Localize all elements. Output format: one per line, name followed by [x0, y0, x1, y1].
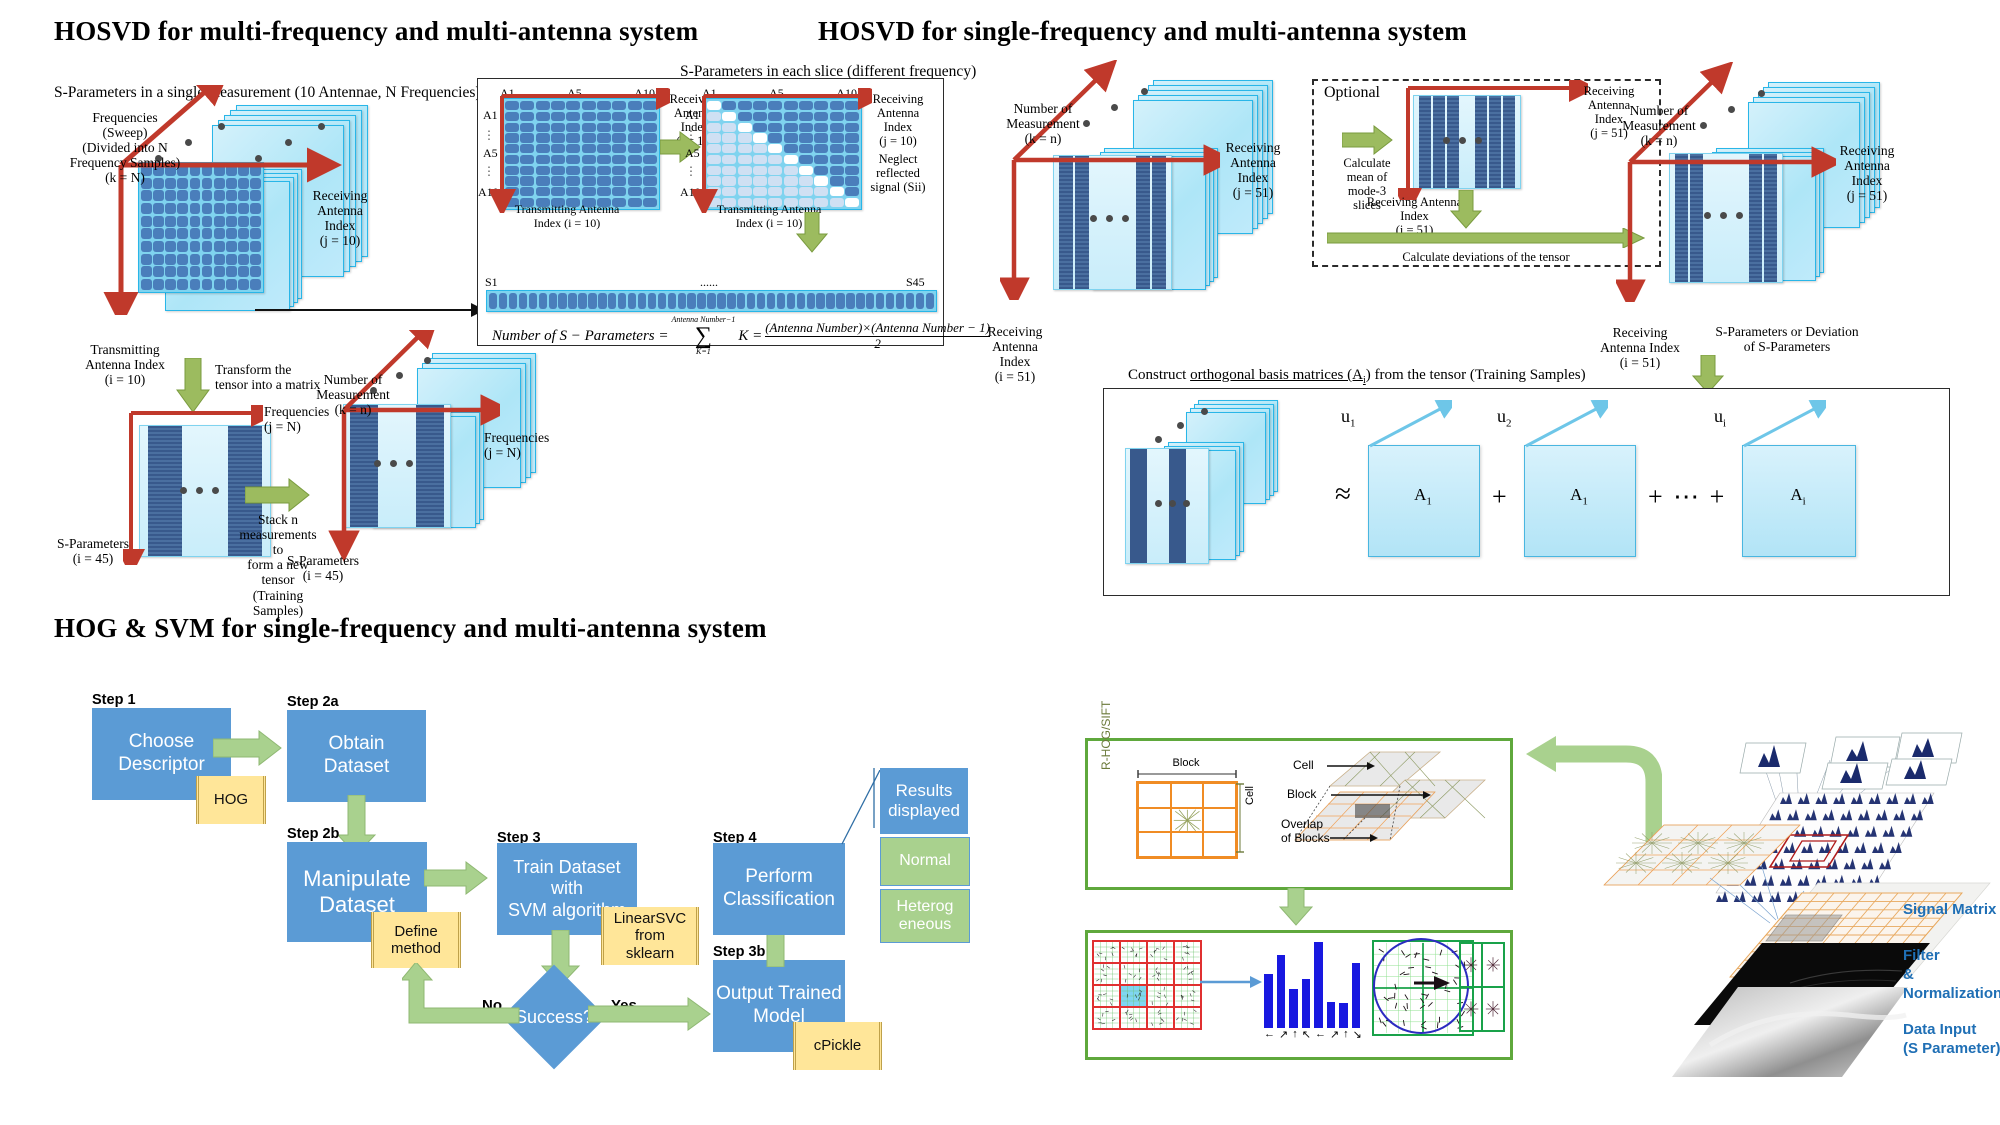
matrix-tri-neglect-note: Neglect reflected signal (Sii) [862, 152, 934, 194]
formula-frac-den: 2 [874, 337, 881, 351]
mt-i0: Transmitting Antenna [679, 203, 859, 217]
green-arrow-down-optional [1450, 190, 1482, 230]
hog-final-cell [1482, 943, 1504, 987]
hog-final-cell [1460, 987, 1482, 1031]
matrix-full-axis-i: Transmitting Antenna Index (i = 10) [477, 203, 657, 231]
formula-frac-num: (Antenna Number)×(Antenna Number − 1) [765, 321, 990, 335]
p2-tensorR-axis-j: Receiving Antenna Index (j = 51) [1827, 143, 1907, 203]
tensor1-k-l2: (Divided into N [60, 140, 190, 155]
signal-matrix-label: Signal Matrix [1903, 901, 2000, 920]
matrix-cell [717, 293, 725, 309]
s-parameter-formula: Number of S − Parameters = Antenna Numbe… [492, 316, 990, 356]
rhog-sift-label: R-HOG/SIFT [1099, 701, 1113, 770]
matrix-cell [707, 293, 715, 309]
histogram-bar [1277, 955, 1286, 1028]
hog-grid-cell [1120, 963, 1147, 985]
u2-u: u [1497, 406, 1506, 426]
matrix-cell [876, 293, 884, 309]
u2-sub: 2 [1506, 418, 1512, 430]
note-cpickle[interactable]: cPickle [793, 1022, 882, 1070]
matrix-cell [558, 293, 566, 309]
histogram-arrow-glyph: ↗ [1330, 1028, 1339, 1041]
basis-matrix-Ai-label: Ai [1742, 485, 1854, 507]
matrix-cell [499, 293, 507, 309]
fb6-l0: Output Trained [716, 983, 842, 1006]
panel1-title: HOSVD for multi-frequency and multi-ante… [54, 16, 698, 47]
hog-co-l0: Overlap [1281, 818, 1330, 832]
mt-j3: (j = 10) [862, 134, 934, 148]
mt-i1: Index (i = 10) [679, 217, 859, 231]
svector-grid [486, 290, 937, 312]
A2-sub: 1 [1582, 495, 1588, 507]
deviations-arrow-label: Calculate deviations of the tensor [1327, 250, 1645, 265]
hog-callout-block-label: Block [1287, 787, 1316, 801]
p2tri1: Antenna Index [1590, 340, 1690, 355]
p2tlk1: Measurement [1000, 116, 1086, 131]
p2-tensorL-axis-i: Receiving Antenna Index (i = 51) [975, 324, 1055, 384]
hog-co-l1: of Blocks [1281, 832, 1330, 846]
t2-k0: Number of [308, 372, 398, 387]
matrix-cell [658, 293, 666, 309]
fb2-l1: Dataset [324, 756, 389, 779]
tensor2-axis-j: Frequencies (j = N) [484, 430, 564, 460]
p2tli3: (i = 51) [975, 369, 1055, 384]
matrix-tri-axis-i: Transmitting Antenna Index (i = 10) [679, 203, 859, 231]
p2trk2: (k = n) [1616, 133, 1702, 148]
histogram-bar [1302, 979, 1311, 1028]
green-arrow-deviations [1327, 228, 1645, 248]
hog-final-arrow [1414, 975, 1450, 991]
p2trn1: of S-Parameters [1702, 339, 1872, 354]
histogram-bar [1314, 942, 1323, 1028]
hog-cell-to-histogram-arrow [1200, 975, 1262, 989]
note-dm-l1: method [391, 940, 441, 957]
result-box-results-displayed[interactable]: Results displayed [880, 768, 968, 834]
mt-n2: signal (Sii) [862, 180, 934, 194]
mf-i0: Transmitting Antenna [477, 203, 657, 217]
hog-grid-cell [1147, 1007, 1174, 1029]
p2tlk0: Number of [1000, 101, 1086, 116]
tensor1-axis-i-label: Transmitting Antenna Index (i = 10) [60, 342, 190, 387]
result-box-normal[interactable]: Normal [880, 837, 970, 886]
note-lsvc-l0: LinearSVC [614, 910, 687, 927]
matrix-cell [816, 293, 824, 309]
hog-final-cell [1460, 943, 1482, 987]
tensor2-axis-k: Number of Measurement (k = n) [308, 372, 398, 417]
basis-approx-symbol: ≈ [1335, 478, 1351, 511]
res-l1: displayed [888, 801, 960, 821]
basis-ui-label: ui [1714, 406, 1726, 430]
hog-callout-overlap-arrow [1330, 834, 1378, 842]
basis-plus-dots: + ⋯ + [1648, 482, 1726, 512]
green-arrow-mean [1342, 125, 1394, 155]
flow-box-obtain-dataset[interactable]: Obtain Dataset [287, 710, 426, 802]
basis-tensor-diag-dots [1155, 400, 1235, 448]
hog-histogram [1264, 942, 1360, 1028]
p2tlj2: Index [1213, 170, 1293, 185]
histogram-arrow-glyph: ↑ [1292, 1028, 1298, 1041]
p2-tensorR-arrows [1616, 62, 1836, 302]
mt-n0: Neglect [862, 152, 934, 166]
matrix-cell [826, 293, 834, 309]
p2tri2: (i = 51) [1590, 355, 1690, 370]
p2trk1: Measurement [1616, 118, 1702, 133]
p2trj1: Antenna [1827, 158, 1907, 173]
note-dm-l0: Define [394, 923, 437, 940]
hog-block-dim-arrow [1136, 770, 1238, 778]
st-l3: (Training Samples) [238, 588, 318, 618]
om0: Calculate [1334, 156, 1400, 170]
p2tri0: Receiving [1590, 325, 1690, 340]
histogram-bar [1339, 1003, 1348, 1028]
tensor1-axis-k-label: Frequencies (Sweep) (Divided into N Freq… [60, 110, 190, 186]
A2-a: A [1570, 485, 1582, 504]
histogram-bar [1264, 974, 1273, 1028]
om1: mean of [1334, 170, 1400, 184]
histogram-arrow-glyph: ↗ [1279, 1028, 1288, 1041]
basis-tensor-dots [1155, 500, 1190, 507]
matrix-cell [697, 293, 705, 309]
mt-n1: reflected [862, 166, 934, 180]
histogram-arrow-glyph: ↖ [1302, 1028, 1311, 1041]
histogram-arrow-glyph: ← [1264, 1028, 1275, 1041]
t2-j1: (j = N) [484, 445, 564, 460]
out1-l0: Heterog [897, 898, 954, 916]
basis-cap-post: ) from the tensor (Training Samples) [1366, 367, 1586, 383]
p2tli1: Antenna [975, 339, 1055, 354]
filter-normalization-label: Filter & Normalization [1903, 947, 2000, 1003]
note-cp-l0: cPickle [814, 1037, 862, 1054]
matrix-cell [836, 293, 844, 309]
mt-j2: Index [862, 120, 934, 134]
fb5-l0: Perform [745, 866, 813, 889]
matrix-cell [568, 293, 576, 309]
tensor1-j-l2: Index [295, 218, 385, 233]
hog-grid-cell [1174, 963, 1201, 985]
sig-l0: Signal Matrix [1903, 901, 2000, 920]
matrix-cell [757, 293, 765, 309]
optional-label: Optional [1324, 84, 1380, 102]
hog-grid-cell [1174, 985, 1201, 1007]
hog-grid-cell [1120, 1007, 1147, 1029]
matrix-cell [896, 293, 904, 309]
matrix-small-axis-i: S-Parameters (i = 45) [48, 536, 138, 566]
ui-sub: i [1723, 418, 1726, 430]
arrow-step1-to-step2a [213, 728, 283, 768]
basis-ui-arrow [1740, 400, 1826, 450]
hog-callout-block-arrow [1331, 791, 1431, 799]
p2tli0: Receiving [975, 324, 1055, 339]
data-input-label: Data Input (S Parameter) [1903, 1021, 2000, 1059]
hog-callout-cell-label: Cell [1293, 758, 1314, 772]
hog-grid-cell [1093, 985, 1120, 1007]
matrix-cell [648, 293, 656, 309]
basis-cap-pre: Construct [1128, 367, 1190, 383]
note-lsvc-l2: sklearn [626, 945, 674, 962]
matrix-cell [777, 293, 785, 309]
t2-j0: Frequencies [484, 430, 564, 445]
hog-grid-cell [1093, 963, 1120, 985]
basis-caption: Construct orthogonal basis matrices (Ai)… [1128, 367, 1586, 386]
matrix-cell [628, 293, 636, 309]
svector-end-label: S45 [906, 275, 925, 290]
hog-grid-cell [1120, 941, 1147, 963]
p2tli2: Index [975, 354, 1055, 369]
A1-sub: 1 [1426, 495, 1432, 507]
res-l0: Results [896, 781, 953, 801]
tensor2-axis-arrows [300, 330, 500, 570]
matrix-full-arrows [490, 88, 670, 213]
u1-u: u [1341, 406, 1350, 426]
green-arrow-to-svector [795, 212, 829, 254]
mt-j0: Receiving [862, 92, 934, 106]
matrix-cell [767, 293, 775, 309]
hog-cell-star-icon [1172, 809, 1203, 832]
matrix-cell [529, 293, 537, 309]
matrix-cell [866, 293, 874, 309]
hog-final-cell [1482, 987, 1504, 1031]
histogram-bar [1352, 963, 1361, 1028]
matrix-cell [926, 293, 934, 309]
note-lsvc-l1: from [635, 927, 665, 944]
formula-lhs: Number of S − Parameters = [492, 328, 668, 345]
tensor1-to-sbox-connector [255, 300, 485, 320]
hog-gradient-grid [1092, 940, 1202, 1030]
tensor1-i-l1: Antenna Index [60, 357, 190, 372]
tensor1-j-l0: Receiving [295, 188, 385, 203]
tensor1-axis-j-label: Receiving Antenna Index (j = 10) [295, 188, 385, 248]
matrix-tri-axis-j: Receiving Antenna Index (j = 10) [862, 92, 934, 148]
formula-sum-bottom: K=1 [696, 348, 711, 356]
sig-f2: Normalization [1903, 985, 2000, 1004]
matrix-cell [618, 293, 626, 309]
u1-sub: 1 [1350, 418, 1356, 430]
matrix-cell [678, 293, 686, 309]
matrix-cell [668, 293, 676, 309]
hog-block-grid [1136, 781, 1238, 859]
p2trj3: (j = 51) [1827, 188, 1907, 203]
sig-f1: & [1903, 966, 2000, 985]
fb1-l0: Choose [129, 731, 195, 754]
hog-histogram-arrow-labels: ←↗↑↖←↗↑↘ [1264, 1028, 1360, 1041]
sig-f0: Filter [1903, 947, 2000, 966]
histogram-bar [1289, 989, 1298, 1028]
out1-l1: eneous [899, 916, 952, 934]
tensor1-k-l3: Frequency Samples) [60, 155, 190, 170]
basis-u1-label: u1 [1341, 406, 1356, 430]
hog-final-cells [1459, 942, 1505, 1032]
t2-k1: Measurement [308, 387, 398, 402]
fb5-l1: Classification [723, 889, 835, 912]
hog-cell-dim-label: Cell [1244, 786, 1256, 805]
p2trj0: Receiving [1827, 143, 1907, 158]
matrix-tri-arrows [692, 88, 872, 213]
step-label-2b: Step 2b [287, 826, 339, 842]
panel2-title: HOSVD for single-frequency and multi-ant… [818, 16, 1467, 47]
histogram-bar [1327, 1002, 1336, 1028]
matrix-cell [787, 293, 795, 309]
tensor1-k-l0: Frequencies [60, 110, 190, 125]
ms-i1: (i = 45) [48, 551, 138, 566]
matrix-cell [509, 293, 517, 309]
hog-grid-cell [1147, 985, 1174, 1007]
ui-u: u [1714, 406, 1723, 426]
Ai-sub: i [1803, 495, 1806, 507]
tensor2-axis-i: S-Parameters (i = 45) [278, 553, 368, 583]
hog-grid-cell [1093, 1007, 1120, 1029]
p2tlj1: Antenna [1213, 155, 1293, 170]
p2tlj3: (j = 51) [1213, 185, 1293, 200]
matrix-cell [598, 293, 606, 309]
matrix-cell [846, 293, 854, 309]
optional-mean-arrows [1398, 80, 1588, 200]
hog-grid-cell [1093, 941, 1120, 963]
arrow-no-loopback [402, 963, 524, 1031]
formula-sum-symbol: ∑ [695, 324, 712, 348]
histogram-arrow-glyph: ↘ [1353, 1028, 1362, 1041]
hog-callout-cell-arrow [1327, 762, 1375, 770]
note-linearsvc[interactable]: LinearSVC from sklearn [601, 907, 699, 965]
mt-j1: Antenna [862, 106, 934, 120]
matrix-cell [727, 293, 735, 309]
tensor1-i-l0: Transmitting [60, 342, 190, 357]
A1-a: A [1414, 485, 1426, 504]
step-label-1: Step 1 [92, 692, 136, 708]
histogram-arrow-glyph: ↑ [1343, 1028, 1349, 1041]
matrix-cell [638, 293, 646, 309]
matrix-cell [886, 293, 894, 309]
matrix-cell [906, 293, 914, 309]
tensor1-k-l1: (Sweep) [60, 125, 190, 140]
arrow-step2b-to-step3 [424, 860, 489, 896]
panel3-title: HOG & SVM for single-frequency and multi… [54, 613, 767, 644]
ms-i0: S-Parameters [48, 536, 138, 551]
matrix-cell [489, 293, 497, 309]
matrix-cell [608, 293, 616, 309]
out0-l0: Normal [899, 852, 951, 870]
hog-callout-overlap-label: Overlap of Blocks [1281, 818, 1330, 846]
t2-k2: (k = n) [308, 402, 398, 417]
hog-grid-cell [1174, 941, 1201, 963]
matrix-cell [687, 293, 695, 309]
histogram-arrow-glyph: ← [1315, 1028, 1326, 1041]
matrix-cell [797, 293, 805, 309]
matrix-cell [578, 293, 586, 309]
fb3-l0: Manipulate [303, 866, 411, 892]
fb1-l1: Descriptor [118, 754, 205, 777]
basis-plus-1: + [1492, 482, 1507, 512]
basis-matrix-A2-label: A1 [1524, 485, 1634, 507]
tensor1-j-l1: Antenna [295, 203, 385, 218]
hog-block-dim-label: Block [1140, 757, 1232, 769]
decision-success-label: Success? [512, 985, 596, 1049]
p2-tensorR-axis-k: Number of Measurement (k = n) [1616, 103, 1702, 148]
formula-k-eq: K = [738, 328, 762, 345]
matrix-cell [737, 293, 745, 309]
hog-grid-cell [1120, 985, 1147, 1007]
tensor1-j-l3: (j = 10) [295, 233, 385, 248]
t2-i1: (i = 45) [278, 568, 368, 583]
green-arrow-hog-down [1278, 888, 1314, 926]
sig-d0: Data Input [1903, 1021, 2000, 1040]
p2-tensorR-note: S-Parameters or Deviation of S-Parameter… [1702, 324, 1872, 354]
basis-u1-arrow [1366, 400, 1452, 450]
callout-bracket-results [871, 768, 877, 830]
Ai-a: A [1790, 485, 1802, 504]
tensor1-k-l4: (k = N) [60, 170, 190, 185]
p2trk0: Number of [1616, 103, 1702, 118]
basis-cap-underlined: orthogonal basis matrices (A [1190, 367, 1363, 383]
matrix-cell [539, 293, 547, 309]
basis-u2-arrow [1522, 400, 1608, 450]
p2tlk2: (k = n) [1000, 131, 1086, 146]
p2-tensorL-arrows [1000, 60, 1220, 300]
matrix-cell [856, 293, 864, 309]
step-label-2a: Step 2a [287, 694, 339, 710]
tensor1-i-l2: (i = 10) [60, 372, 190, 387]
matrix-cell [807, 293, 815, 309]
flow-box-perform-classification[interactable]: Perform Classification [713, 843, 845, 935]
matrix-cell [916, 293, 924, 309]
matrix-cell [549, 293, 557, 309]
matrix-cell [519, 293, 527, 309]
p2-tensorL-axis-k: Number of Measurement (k = n) [1000, 101, 1086, 146]
p2-tensorL-axis-j: Receiving Antenna Index (j = 51) [1213, 140, 1293, 200]
p2tlj0: Receiving [1213, 140, 1293, 155]
note-hog[interactable]: HOG [196, 776, 266, 824]
mf-i1: Index (i = 10) [477, 217, 657, 231]
hog-grid-cell [1147, 963, 1174, 985]
t2-i0: S-Parameters [278, 553, 368, 568]
svector-start-label: S1 [485, 275, 498, 290]
basis-u2-label: u2 [1497, 406, 1512, 430]
fb2-l0: Obtain [329, 733, 385, 756]
p2trj2: Index [1827, 173, 1907, 188]
note-define-method[interactable]: Define method [371, 912, 461, 968]
basis-matrix-A1-label: A1 [1368, 485, 1478, 507]
svector-middle-label: ...... [700, 275, 718, 290]
arrow-yes-to-step3b [588, 996, 713, 1032]
sig-d1: (S Parameter) [1903, 1040, 2000, 1059]
p2-tensorR-axis-i: Receiving Antenna Index (i = 51) [1590, 325, 1690, 370]
matrix-cell [588, 293, 596, 309]
hog-cell-dim-arrow [1236, 782, 1244, 854]
p2trn0: S-Parameters or Deviation [1702, 324, 1872, 339]
matrix-cell [747, 293, 755, 309]
note-hog-l0: HOG [214, 791, 248, 808]
result-box-heterogeneous[interactable]: Heterog eneous [880, 889, 970, 943]
hog-grid-cell [1174, 1007, 1201, 1029]
hog-grid-cell [1147, 941, 1174, 963]
fb4-l0: Train Dataset with [497, 857, 637, 900]
